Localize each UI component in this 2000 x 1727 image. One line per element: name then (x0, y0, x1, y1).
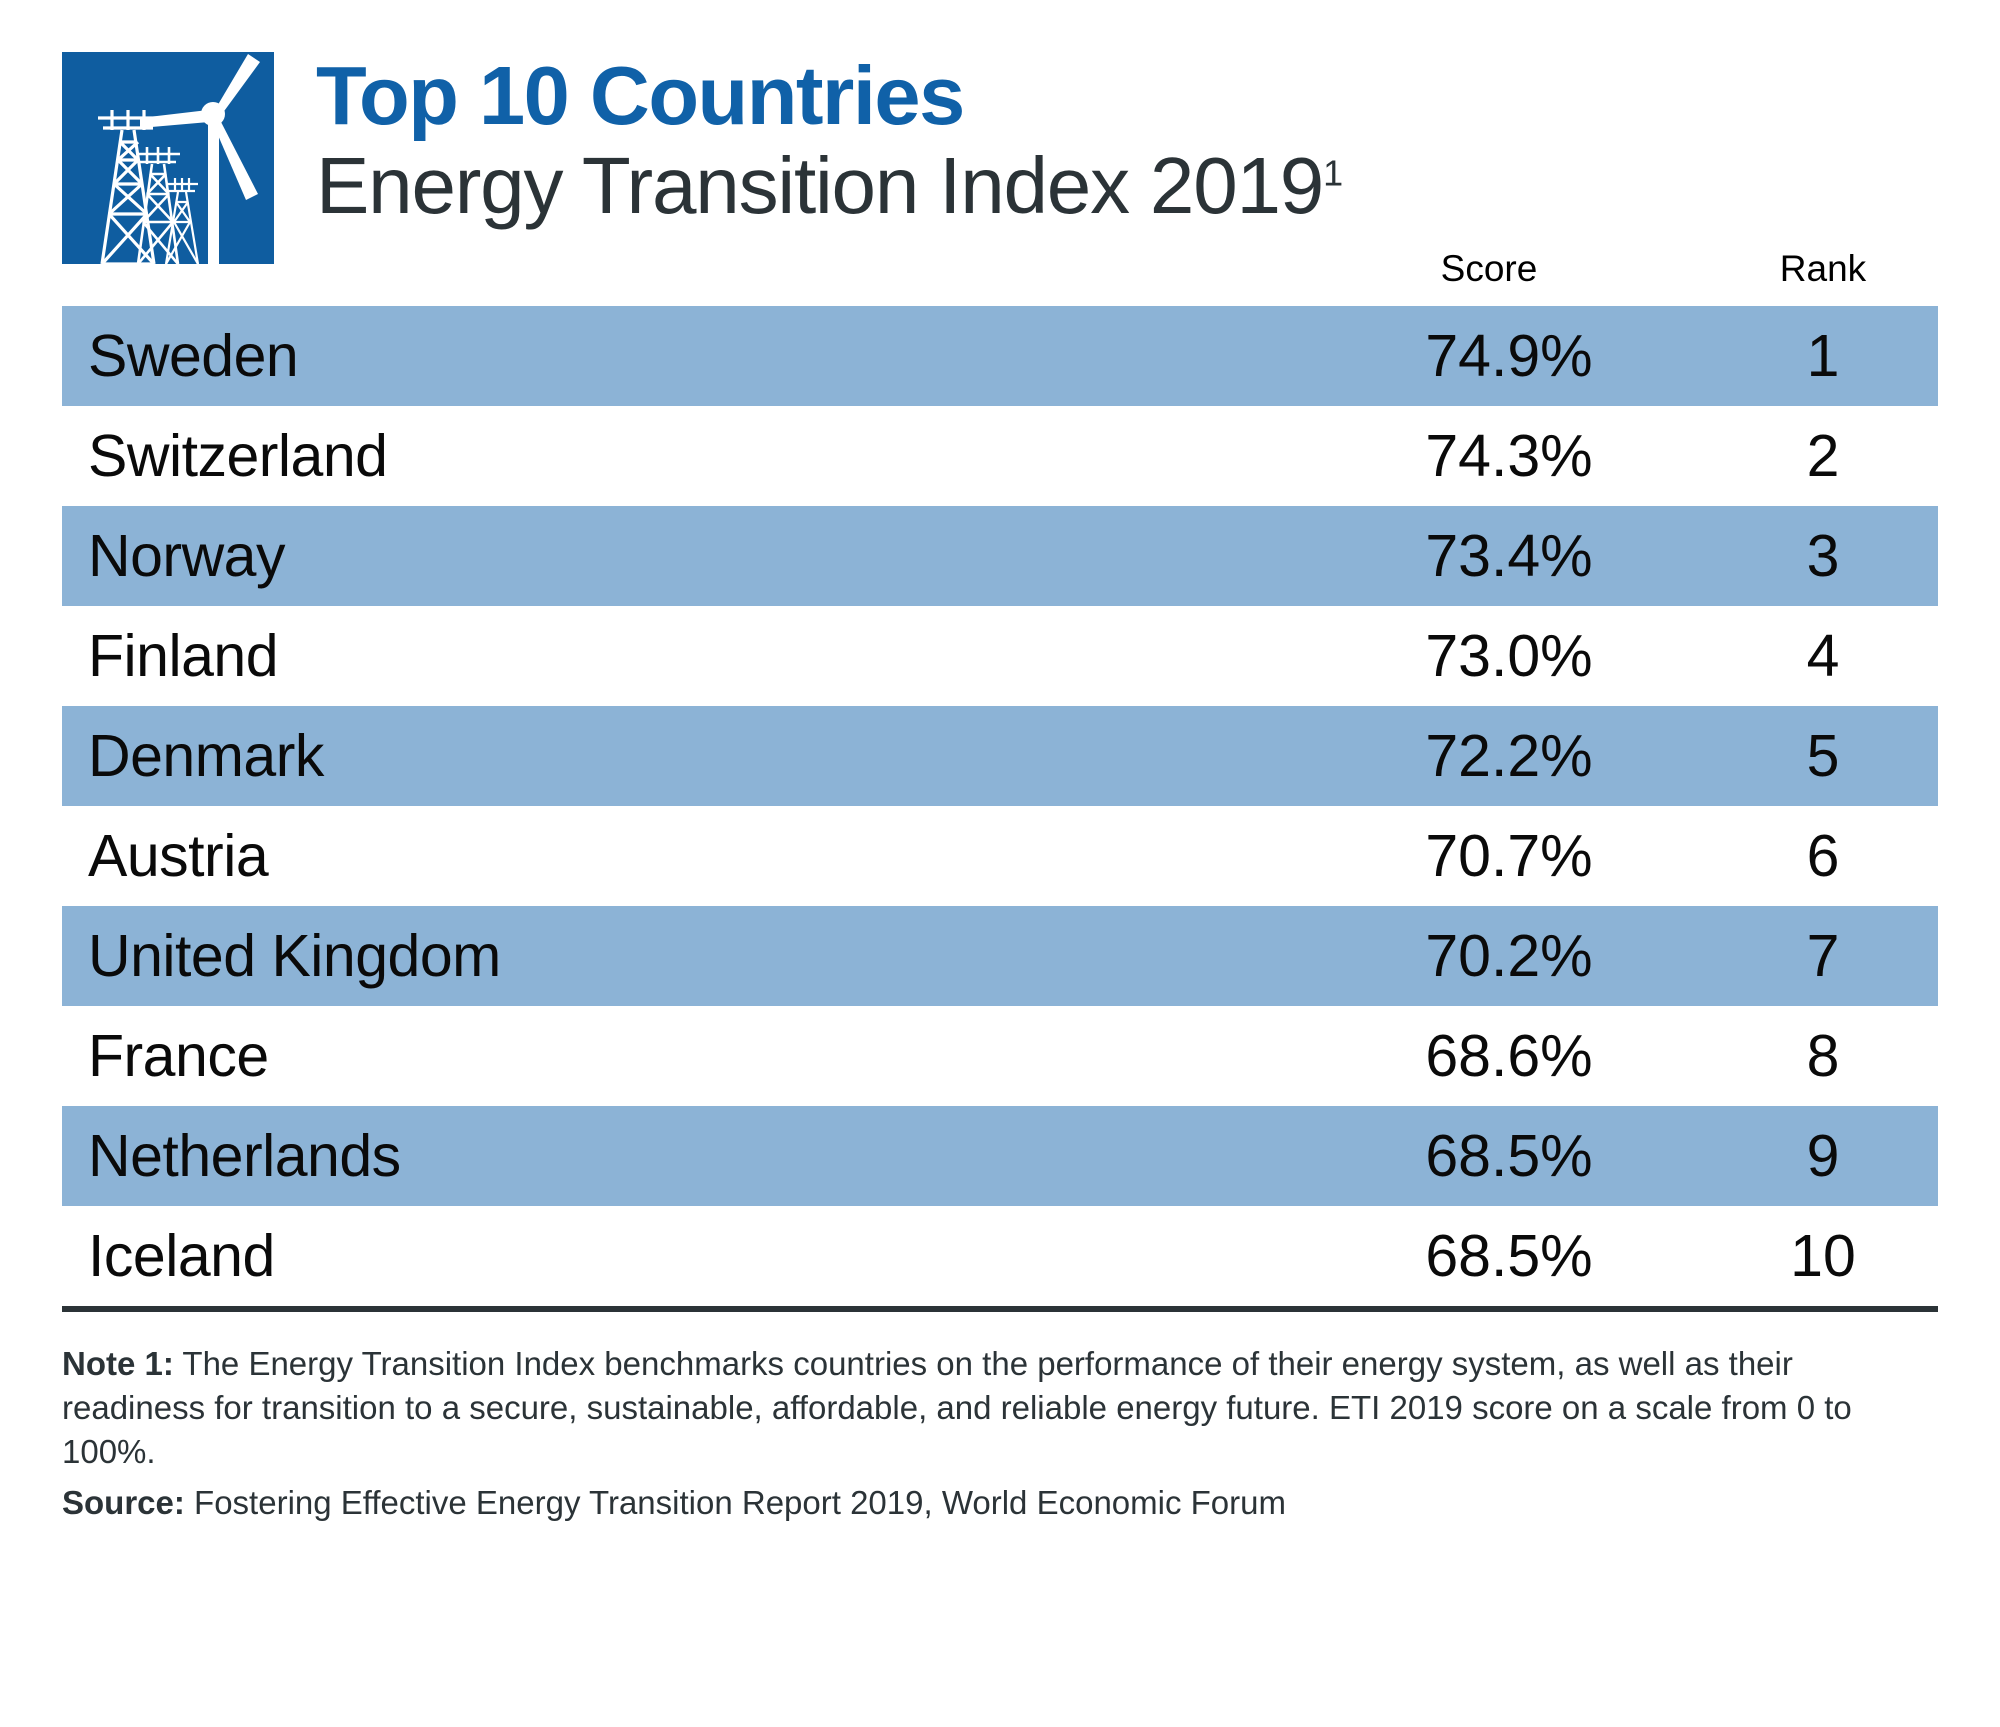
country-name: Austria (62, 827, 1394, 886)
country-score: 68.6% (1394, 1027, 1624, 1086)
source-text: Fostering Effective Energy Transition Re… (185, 1484, 1286, 1521)
country-name: France (62, 1027, 1394, 1086)
country-name: Sweden (62, 327, 1394, 386)
country-score: 72.2% (1394, 727, 1624, 786)
table-row: Iceland 68.5% 10 (62, 1206, 1938, 1306)
table-column-headers: Score Rank (62, 248, 1938, 300)
country-score: 74.3% (1394, 427, 1624, 486)
page-title: Top 10 Countries (316, 54, 1342, 139)
power-towers-wind-turbine-icon (62, 52, 274, 264)
table-row: France 68.6% 8 (62, 1006, 1938, 1106)
country-rank: 5 (1728, 727, 1918, 786)
country-rank: 10 (1728, 1227, 1918, 1286)
table-row: Netherlands 68.5% 9 (62, 1106, 1938, 1206)
country-rank: 3 (1728, 527, 1918, 586)
page-subtitle-text: Energy Transition Index 2019 (316, 141, 1323, 230)
country-rank: 1 (1728, 327, 1918, 386)
country-name: Denmark (62, 727, 1394, 786)
note-paragraph: Note 1: The Energy Transition Index benc… (62, 1342, 1938, 1475)
note-label: Note 1: (62, 1345, 174, 1382)
title-block: Top 10 Countries Energy Transition Index… (316, 52, 1342, 229)
header: Top 10 Countries Energy Transition Index… (0, 0, 2000, 230)
country-rank: 4 (1728, 627, 1918, 686)
country-score: 73.0% (1394, 627, 1624, 686)
country-score: 70.2% (1394, 927, 1624, 986)
rankings-table: Sweden 74.9% 1 Switzerland 74.3% 2 Norwa… (62, 306, 1938, 1312)
country-name: United Kingdom (62, 927, 1394, 986)
table-row: Sweden 74.9% 1 (62, 306, 1938, 406)
country-rank: 7 (1728, 927, 1918, 986)
table-row: United Kingdom 70.2% 7 (62, 906, 1938, 1006)
footer: Note 1: The Energy Transition Index benc… (62, 1342, 1938, 1525)
country-score: 73.4% (1394, 527, 1624, 586)
country-score: 70.7% (1394, 827, 1624, 886)
country-score: 68.5% (1394, 1227, 1624, 1286)
country-rank: 2 (1728, 427, 1918, 486)
country-rank: 9 (1728, 1127, 1918, 1186)
table-row: Switzerland 74.3% 2 (62, 406, 1938, 506)
source-paragraph: Source: Fostering Effective Energy Trans… (62, 1481, 1938, 1525)
country-name: Switzerland (62, 427, 1394, 486)
page-subtitle: Energy Transition Index 20191 (316, 143, 1342, 229)
note-text: The Energy Transition Index benchmarks c… (62, 1345, 1852, 1470)
footnote-marker: 1 (1323, 152, 1342, 193)
country-rank: 6 (1728, 827, 1918, 886)
table-row: Finland 73.0% 4 (62, 606, 1938, 706)
country-name: Iceland (62, 1227, 1394, 1286)
infographic-page: Top 10 Countries Energy Transition Index… (0, 0, 2000, 1727)
country-score: 68.5% (1394, 1127, 1624, 1186)
country-name: Finland (62, 627, 1394, 686)
table-row: Austria 70.7% 6 (62, 806, 1938, 906)
country-score: 74.9% (1394, 327, 1624, 386)
column-header-score: Score (1374, 248, 1604, 290)
table-row: Denmark 72.2% 5 (62, 706, 1938, 806)
country-name: Netherlands (62, 1127, 1394, 1186)
source-label: Source: (62, 1484, 185, 1521)
table-row: Norway 73.4% 3 (62, 506, 1938, 606)
country-rank: 8 (1728, 1027, 1918, 1086)
country-name: Norway (62, 527, 1394, 586)
column-header-rank: Rank (1728, 248, 1918, 290)
